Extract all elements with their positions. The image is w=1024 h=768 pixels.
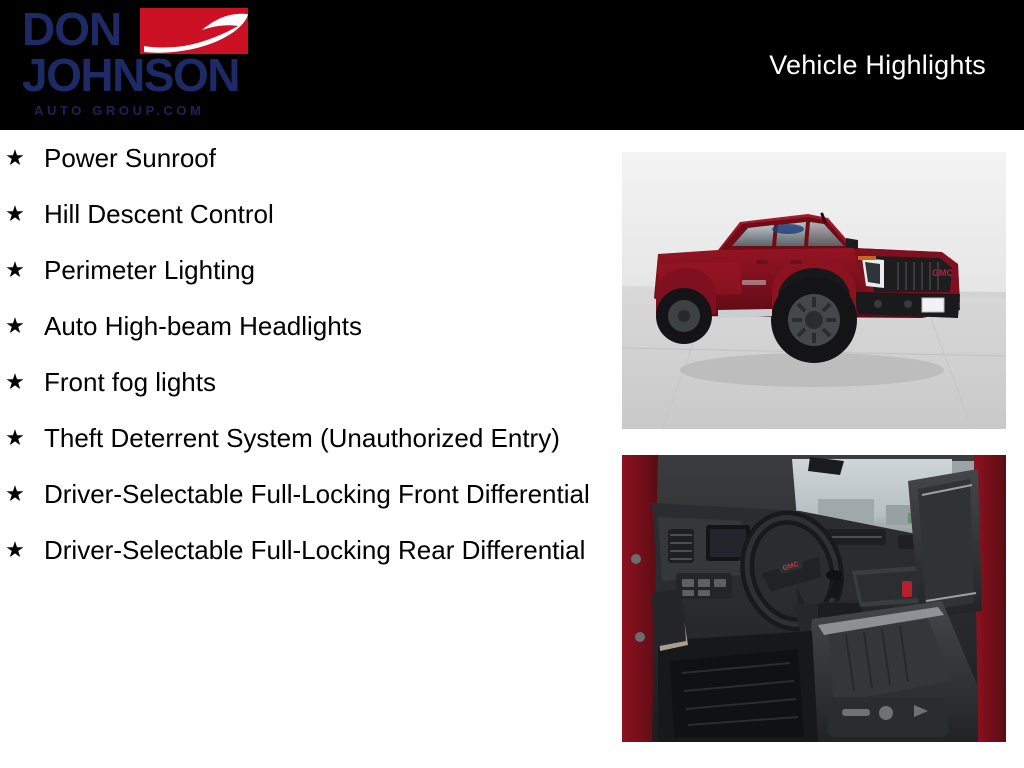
star-bullet-icon: ★ — [0, 421, 30, 455]
page-header: DON JOHNSON AUTO GROUP.COM Vehicle Highl… — [0, 0, 1024, 130]
list-item: ★ Power Sunroof — [0, 141, 590, 176]
star-bullet-icon: ★ — [0, 253, 30, 287]
list-item: ★ Driver-Selectable Full-Locking Front D… — [0, 477, 590, 512]
feature-label: Driver-Selectable Full-Locking Rear Diff… — [30, 533, 590, 568]
feature-label: Theft Deterrent System (Unauthorized Ent… — [30, 421, 590, 456]
list-item: ★ Driver-Selectable Full-Locking Rear Di… — [0, 533, 590, 568]
feature-label: Auto High-beam Headlights — [30, 309, 590, 344]
exterior-photo-graphic: GMC — [622, 152, 1006, 429]
vehicle-highlights-list: ★ Power Sunroof ★ Hill Descent Control ★… — [0, 141, 590, 589]
list-item: ★ Theft Deterrent System (Unauthorized E… — [0, 421, 590, 456]
page-title: Vehicle Highlights — [769, 50, 986, 81]
feature-label: Driver-Selectable Full-Locking Front Dif… — [30, 477, 590, 512]
svg-text:GMC: GMC — [932, 268, 953, 278]
star-bullet-icon: ★ — [0, 197, 30, 231]
feature-label: Front fog lights — [30, 365, 590, 400]
logo-text-johnson: JOHNSON — [22, 52, 239, 98]
dealer-logo[interactable]: DON JOHNSON AUTO GROUP.COM — [22, 4, 262, 128]
list-item: ★ Front fog lights — [0, 365, 590, 400]
feature-label: Power Sunroof — [30, 141, 590, 176]
vehicle-interior-photo[interactable]: GMC — [622, 455, 1006, 742]
feature-label: Hill Descent Control — [30, 197, 590, 232]
feature-label: Perimeter Lighting — [30, 253, 590, 288]
star-bullet-icon: ★ — [0, 365, 30, 399]
swoosh-icon — [140, 8, 248, 54]
star-bullet-icon: ★ — [0, 533, 30, 567]
vehicle-exterior-photo[interactable]: GMC — [622, 152, 1006, 429]
list-item: ★ Perimeter Lighting — [0, 253, 590, 288]
star-bullet-icon: ★ — [0, 477, 30, 511]
interior-photo-graphic: GMC — [622, 455, 1006, 742]
list-item: ★ Auto High-beam Headlights — [0, 309, 590, 344]
logo-red-block — [140, 8, 248, 54]
star-bullet-icon: ★ — [0, 309, 30, 343]
star-bullet-icon: ★ — [0, 141, 30, 175]
list-item: ★ Hill Descent Control — [0, 197, 590, 232]
logo-tagline: AUTO GROUP.COM — [34, 103, 205, 118]
logo-text-don: DON — [22, 6, 121, 52]
